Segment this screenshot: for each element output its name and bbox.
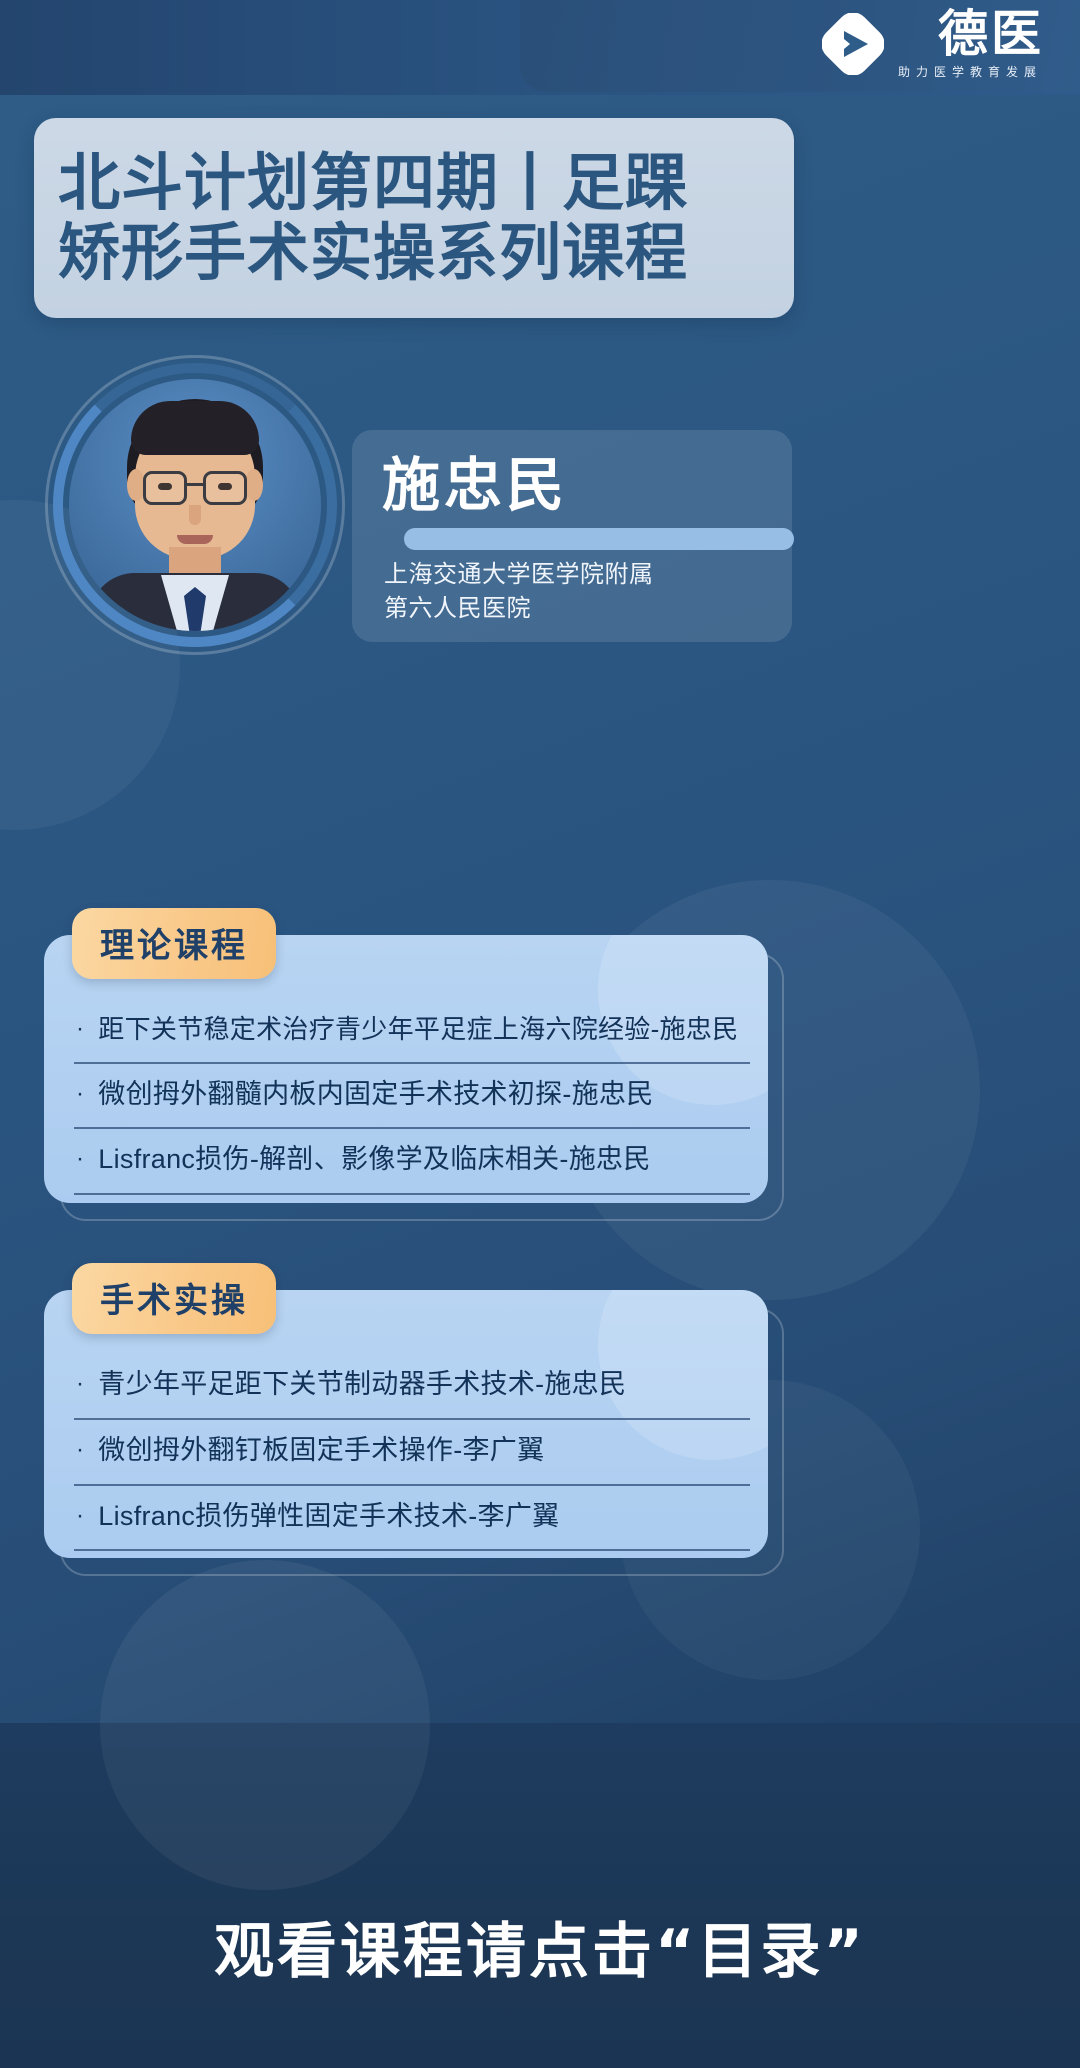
decorative-circle: [100, 1560, 430, 1890]
play-diamond-icon: [822, 13, 884, 75]
course-title: Lisfranc损伤弹性固定手术技术-李广翼: [98, 1500, 559, 1534]
speaker-org-line1: 上海交通大学医学院附属: [384, 558, 784, 592]
speaker-name: 施忠民: [382, 456, 568, 514]
brand-name: 德医: [938, 9, 1044, 59]
portrait-photo: [69, 379, 321, 631]
bullet-icon: ·: [76, 1013, 84, 1045]
page-title-line2: 矫形手术实操系列课程: [58, 218, 770, 288]
title-card: 北斗计划第四期丨足踝 矫形手术实操系列课程: [34, 118, 794, 318]
course-title: 微创拇外翻钉板固定手术操作-李广翼: [98, 1434, 544, 1468]
list-item[interactable]: ·微创拇外翻髓内板内固定手术技术初探-施忠民: [72, 1064, 752, 1130]
bullet-icon: ·: [76, 1500, 84, 1532]
section-theory: 理论课程 ·距下关节稳定术治疗青少年平足症上海六院经验-施忠民 ·微创拇外翻髓内…: [44, 935, 784, 1203]
list-item[interactable]: ·青少年平足距下关节制动器手术技术-施忠民: [72, 1354, 752, 1420]
speaker-name-wrap: 施忠民: [382, 456, 568, 514]
speaker-organization: 上海交通大学医学院附属 第六人民医院: [384, 558, 784, 626]
speaker-name-underline: [404, 528, 794, 550]
brand-logo[interactable]: 德医 助力医学教育发展: [822, 6, 1044, 82]
section-practice: 手术实操 ·青少年平足距下关节制动器手术技术-施忠民 ·微创拇外翻钉板固定手术操…: [44, 1290, 784, 1559]
speaker-card: 施忠民 上海交通大学医学院附属 第六人民医院: [352, 430, 792, 642]
bullet-icon: ·: [76, 1368, 84, 1400]
speaker-portrait: [45, 355, 345, 655]
section-badge-theory: 理论课程: [72, 908, 276, 979]
poster-root: 德医 助力医学教育发展 北斗计划第四期丨足踝 矫形手术实操系列课程: [0, 0, 1080, 2068]
bullet-icon: ·: [76, 1143, 84, 1175]
list-item[interactable]: ·距下关节稳定术治疗青少年平足症上海六院经验-施忠民: [72, 999, 752, 1064]
footer-cta: 观看课程请点击“目录”: [0, 1903, 1080, 1990]
brand-tagline: 助力医学教育发展: [898, 63, 1044, 80]
section-badge-practice: 手术实操: [72, 1263, 276, 1334]
list-item[interactable]: ·Lisfranc损伤-解剖、影像学及临床相关-施忠民: [72, 1129, 752, 1195]
course-title: 青少年平足距下关节制动器手术技术-施忠民: [98, 1368, 626, 1402]
course-title: 微创拇外翻髓内板内固定手术技术初探-施忠民: [98, 1078, 653, 1112]
list-item[interactable]: ·Lisfranc损伤弹性固定手术技术-李广翼: [72, 1486, 752, 1552]
bullet-icon: ·: [76, 1434, 84, 1466]
speaker-org-line2: 第六人民医院: [384, 592, 784, 626]
bullet-icon: ·: [76, 1078, 84, 1110]
divider: [74, 1549, 750, 1551]
course-title: 距下关节稳定术治疗青少年平足症上海六院经验-施忠民: [98, 1013, 738, 1046]
course-title: Lisfranc损伤-解剖、影像学及临床相关-施忠民: [98, 1143, 650, 1177]
divider: [74, 1193, 750, 1195]
page-title-line1: 北斗计划第四期丨足踝: [58, 148, 770, 218]
list-item[interactable]: ·微创拇外翻钉板固定手术操作-李广翼: [72, 1420, 752, 1486]
